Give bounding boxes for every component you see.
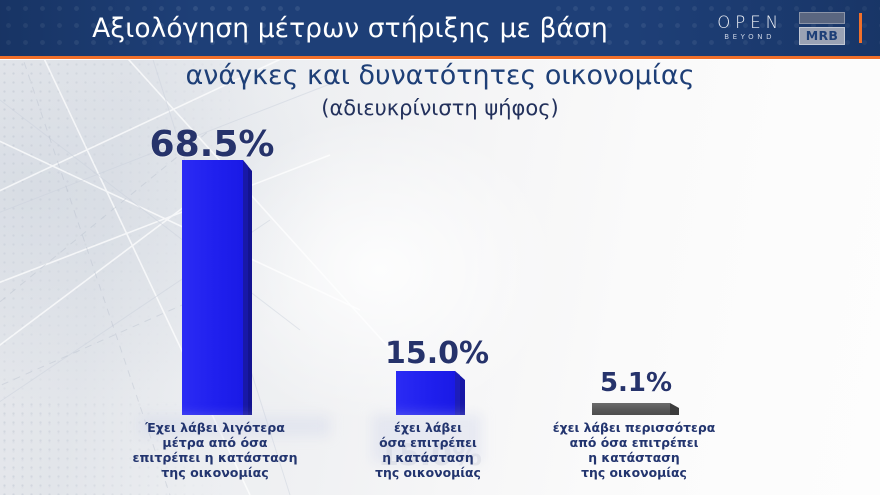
bar-value-1: 68.5%: [82, 124, 342, 165]
bar-value-2: 15.0%: [307, 336, 567, 371]
bar-3-face: [592, 403, 670, 415]
bar-3[interactable]: [592, 403, 670, 415]
bar-label-3: έχει λάβει περισσότερα από όσα επιτρέπει…: [519, 420, 749, 480]
bar-label-1: Έχει λάβει λιγότερα μέτρα από όσα επιτρέ…: [100, 420, 330, 480]
bar-value-3: 5.1%: [506, 368, 766, 398]
bar-1[interactable]: [182, 160, 243, 415]
poll-result-graphic: Αξιολόγηση μέτρων στήριξης με βάση OPEN …: [0, 0, 880, 495]
bar-3-side: [670, 403, 680, 415]
bar-1-face: [182, 160, 243, 415]
bar-2-side: [455, 371, 466, 415]
bar-chart: 15.0% 68.5% Έχει λάβει λιγότερα μέτρα απ…: [0, 0, 880, 495]
bar-2[interactable]: [396, 371, 455, 415]
bar-2-face: [396, 371, 455, 415]
bar-1-side: [243, 160, 253, 415]
bar-label-2: έχει λάβει όσα επιτρέπει η κατάσταση της…: [313, 420, 543, 480]
